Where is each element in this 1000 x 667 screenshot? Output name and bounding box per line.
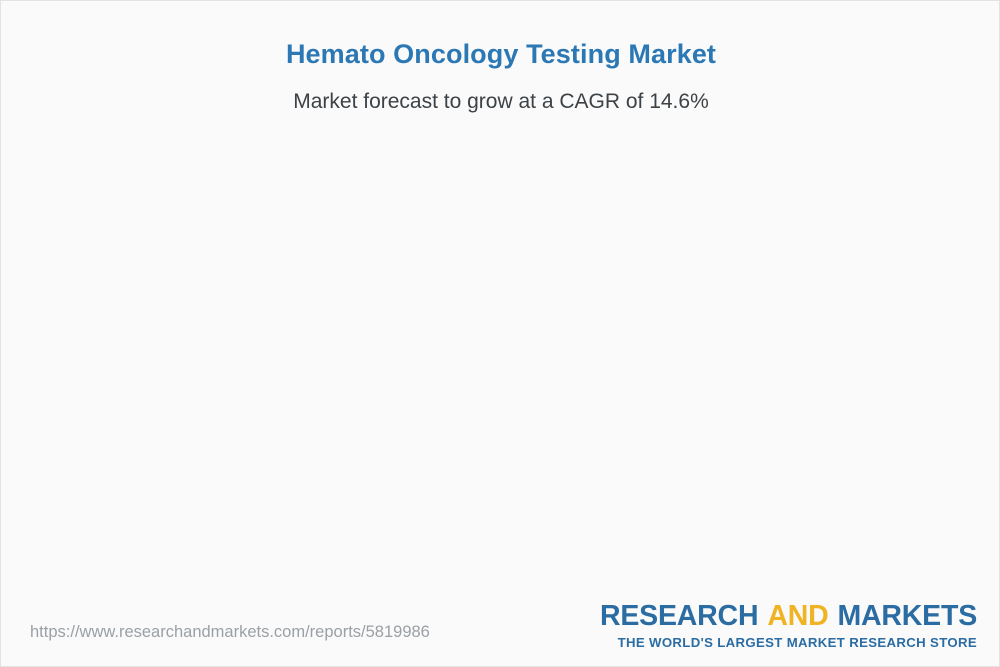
chart-canvas: Hemato Oncology Testing Market Market fo… xyxy=(0,0,1000,667)
logo-wordmark: RESEARCHANDMARKETS xyxy=(600,602,977,631)
research-and-markets-logo[interactable]: RESEARCHANDMARKETS THE WORLD'S LARGEST M… xyxy=(600,602,977,650)
logo-word-and: AND xyxy=(767,600,828,632)
source-url[interactable]: https://www.researchandmarkets.com/repor… xyxy=(30,623,430,642)
plot-area: USD 3.96 Billion xyxy=(1,1,1000,601)
logo-word-markets: MARKETS xyxy=(837,600,977,632)
logo-tagline: THE WORLD'S LARGEST MARKET RESEARCH STOR… xyxy=(600,635,977,650)
logo-word-research: RESEARCH xyxy=(600,600,758,632)
